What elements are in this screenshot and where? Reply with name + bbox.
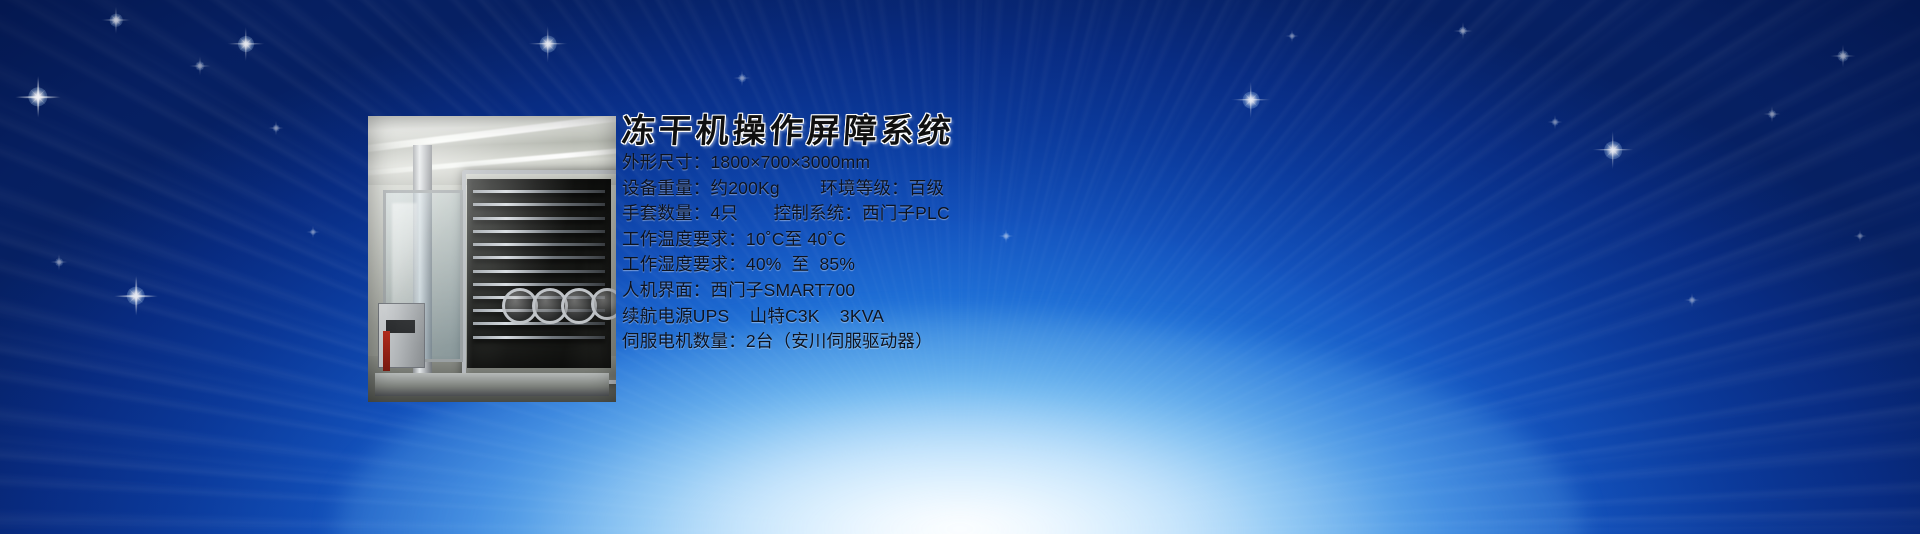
photo-scene [368, 116, 616, 402]
spec-line-weight-class: 设备重量：约200Kg 环境等级：百级 [622, 176, 950, 202]
chamber-door-frame [462, 170, 616, 384]
spec-line-servo-motor: 伺服电机数量：2台（安川伺服驱动器） [622, 329, 950, 355]
corner-vignette [0, 0, 1920, 534]
emergency-stop-strip [383, 331, 390, 371]
spec-list: 外形尺寸：1800×700×3000mm 设备重量：约200Kg 环境等级：百级… [622, 150, 950, 355]
product-photo [368, 116, 616, 402]
spec-line-gloves-plc: 手套数量：4只 控制系统：西门子PLC [622, 201, 950, 227]
spec-line-dimensions: 外形尺寸：1800×700×3000mm [622, 150, 950, 176]
equipment-base-frame [375, 373, 608, 396]
glove-port [591, 288, 616, 320]
promo-banner: 冻干机操作屏障系统 外形尺寸：1800×700×3000mm 设备重量：约200… [0, 0, 1920, 534]
page-title: 冻干机操作屏障系统 [620, 104, 956, 152]
spec-line-temperature: 工作温度要求：10˚C至 40˚C [622, 227, 950, 253]
spec-line-ups: 续航电源UPS 山特C3K 3KVA [622, 304, 950, 330]
spec-line-hmi: 人机界面：西门子SMART700 [622, 278, 950, 304]
spec-line-humidity: 工作湿度要求：40% 至 85% [622, 252, 950, 278]
